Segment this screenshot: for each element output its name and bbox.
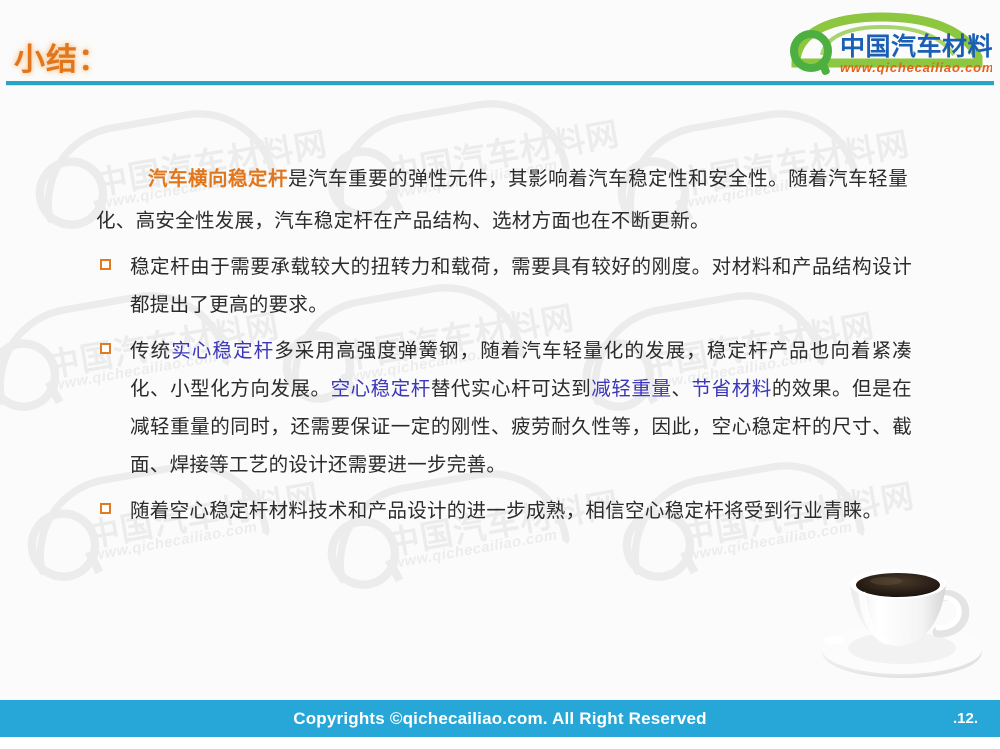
segment-plain: 替代实心杆可达到 — [431, 378, 591, 400]
lead-paragraph: 汽车横向稳定杆是汽车重要的弹性元件，其影响着汽车稳定性和安全性。随着汽车轻量化、… — [96, 158, 908, 242]
segment-highlight-solid-bar: 实心稳定杆 — [171, 340, 274, 362]
title-underline-rule — [6, 81, 994, 85]
svg-text:www.qichecailiao.com: www.qichecailiao.com — [840, 60, 992, 75]
presentation-slide: 中国汽车材料网 www.qichecailiao.com 中国汽车材料网 www… — [0, 0, 1000, 749]
copyright-text: Copyrights ©qichecailiao.com. All Right … — [0, 709, 1000, 729]
square-bullet-icon — [100, 503, 111, 514]
list-item-text: 稳定杆由于需要承载较大的扭转力和载荷，需要具有较好的刚度。对材料和产品结构设计都… — [130, 248, 912, 324]
page-title: 小结： — [14, 34, 110, 79]
footer-bottom-strip — [0, 737, 1000, 749]
svg-text:中国汽车材料网: 中国汽车材料网 — [840, 32, 992, 61]
segment-plain: 传统 — [130, 340, 171, 362]
segment-highlight-weight-reduction: 减轻重量 — [591, 378, 671, 400]
square-bullet-icon — [100, 259, 111, 270]
site-logo[interactable]: 中国汽车材料网 www.qichecailiao.com — [778, 11, 992, 77]
page-number: .12. — [953, 710, 978, 727]
segment-highlight-material-saving: 节省材料 — [692, 378, 772, 400]
list-item-text: 传统实心稳定杆多采用高强度弹簧钢，随着汽车轻量化的发展，稳定杆产品也向着紧凑化、… — [130, 332, 912, 484]
segment-plain: 随着空心稳定杆材料技术和产品设计的进一步成熟，相信空心稳定杆将受到行业青睐。 — [130, 500, 882, 522]
segment-plain: 、 — [672, 378, 692, 400]
segment-highlight-hollow-bar: 空心稳定杆 — [331, 378, 431, 400]
bullet-list: 稳定杆由于需要承载较大的扭转力和载荷，需要具有较好的刚度。对材料和产品结构设计都… — [96, 248, 912, 538]
square-bullet-icon — [100, 343, 111, 354]
lead-highlight-term: 汽车横向稳定杆 — [148, 168, 288, 190]
slide-footer: Copyrights ©qichecailiao.com. All Right … — [0, 700, 1000, 737]
list-item-text: 随着空心稳定杆材料技术和产品设计的进一步成熟，相信空心稳定杆将受到行业青睐。 — [130, 492, 912, 530]
slide-header: 小结： 中国汽车材料网 www.qichecailiao.com — [0, 0, 1000, 86]
list-item: 稳定杆由于需要承载较大的扭转力和载荷，需要具有较好的刚度。对材料和产品结构设计都… — [96, 248, 912, 324]
coffee-cup-image — [812, 540, 1000, 690]
logo-graphic: 中国汽车材料网 www.qichecailiao.com — [778, 11, 992, 77]
list-item: 随着空心稳定杆材料技术和产品设计的进一步成熟，相信空心稳定杆将受到行业青睐。 — [96, 492, 912, 530]
list-item: 传统实心稳定杆多采用高强度弹簧钢，随着汽车轻量化的发展，稳定杆产品也向着紧凑化、… — [96, 332, 912, 484]
segment-plain: 稳定杆由于需要承载较大的扭转力和载荷，需要具有较好的刚度。对材料和产品结构设计都… — [130, 256, 912, 316]
